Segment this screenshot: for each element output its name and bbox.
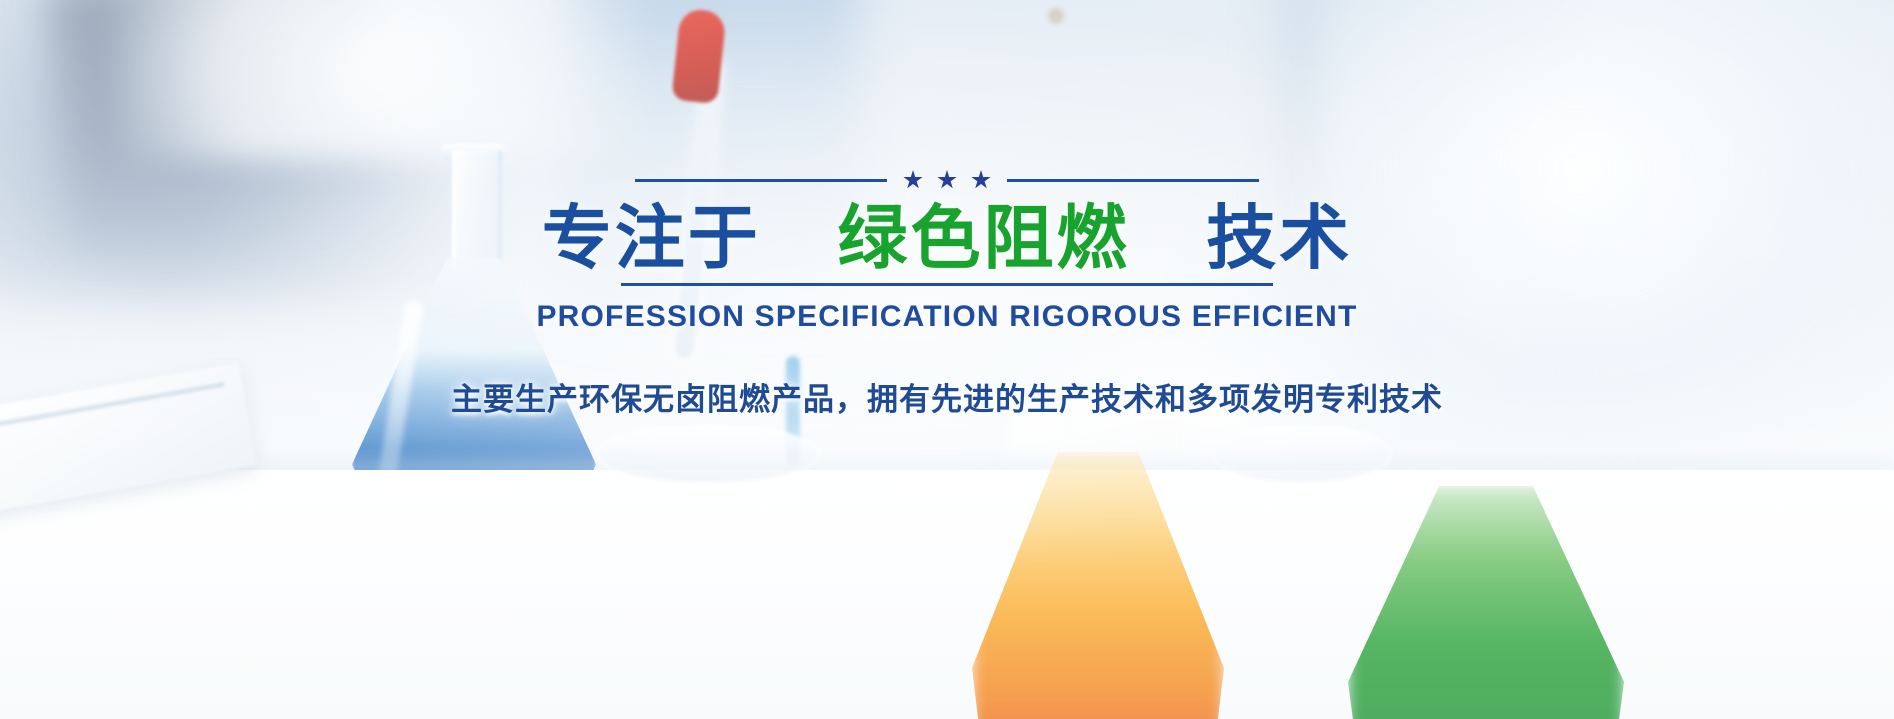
star-icon [903, 170, 923, 190]
description-chinese: 主要生产环保无卤阻燃产品，拥有先进的生产技术和多项发明专利技术 [0, 374, 1894, 419]
star-icon [937, 170, 957, 190]
subtitle-english: PROFESSION SPECIFICATION RIGOROUS EFFICI… [0, 300, 1894, 334]
headline-part-1: 专注于 [542, 197, 761, 279]
divider-with-stars [617, 168, 1277, 192]
banner-content: 专注于 绿色阻燃 技术 PROFESSION SPECIFICATION RIG… [0, 168, 1894, 419]
divider-line-bottom [621, 283, 1273, 286]
hero-banner: 专注于 绿色阻燃 技术 PROFESSION SPECIFICATION RIG… [0, 0, 1894, 719]
divider-line-left [635, 179, 887, 182]
star-group [903, 170, 991, 190]
headline-part-2: 绿色阻燃 [838, 197, 1130, 279]
star-icon [971, 170, 991, 190]
divider-line-right [1007, 179, 1259, 182]
headline-part-3: 技术 [1206, 197, 1352, 279]
page-title: 专注于 绿色阻燃 技术 [0, 200, 1894, 277]
